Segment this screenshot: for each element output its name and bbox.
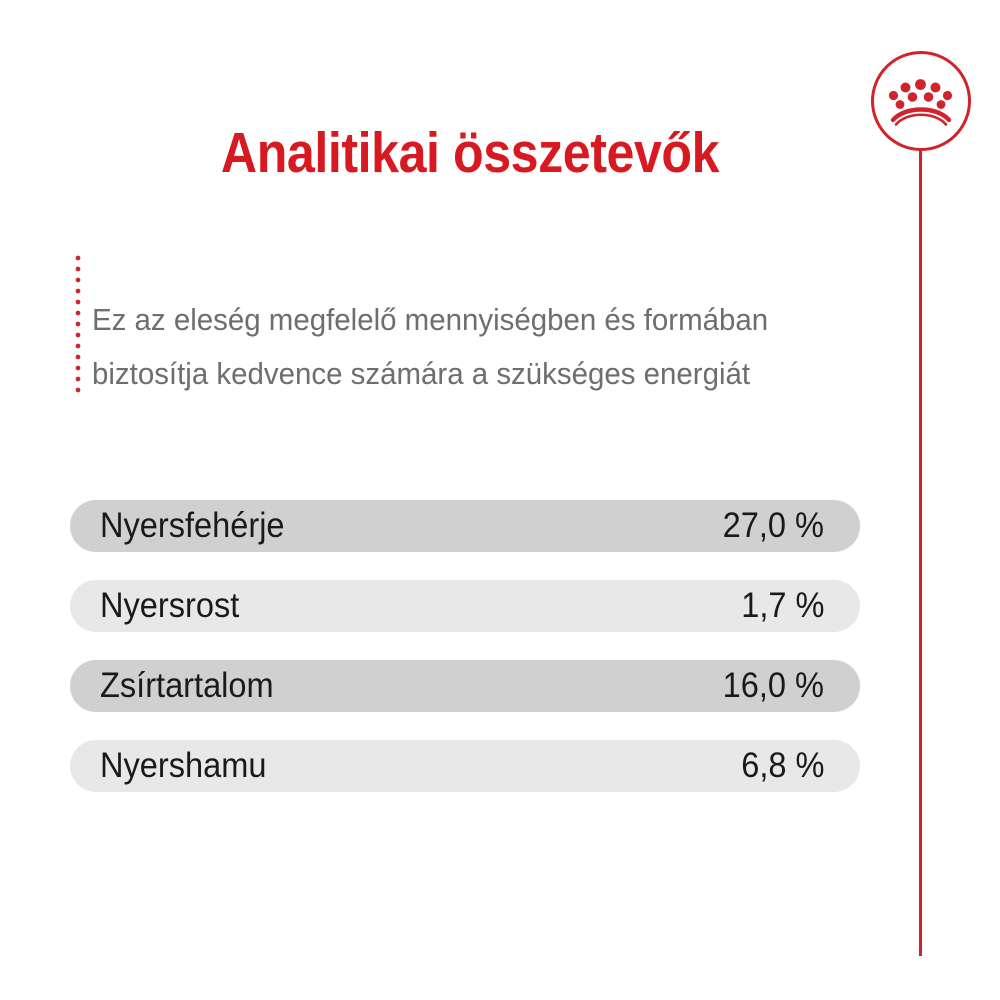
intro-block: Ez az eleség megfelelő mennyiségben és f…: [70, 250, 880, 432]
constituent-label: Nyersfehérje: [100, 500, 285, 552]
table-row: Nyersrost 1,7 %: [70, 580, 860, 632]
table-row: Nyershamu 6,8 %: [70, 740, 860, 792]
dotted-rule-icon: [70, 250, 92, 398]
brand-stem-line: [919, 100, 922, 956]
constituent-label: Nyershamu: [100, 740, 266, 792]
intro-text: Ez az eleség megfelelő mennyiségben és f…: [92, 281, 841, 401]
constituents-list: Nyersfehérje 27,0 % Nyersrost 1,7 % Zsír…: [70, 500, 860, 792]
constituent-value: 1,7 %: [741, 580, 824, 632]
constituent-value: 16,0 %: [723, 660, 824, 712]
crown-icon: [889, 76, 953, 126]
analytical-constituents-panel: Analitikai összetevők Ez az eleség megfe…: [0, 0, 1000, 1000]
constituent-label: Nyersrost: [100, 580, 239, 632]
table-row: Nyersfehérje 27,0 %: [70, 500, 860, 552]
constituent-label: Zsírtartalom: [100, 660, 274, 712]
page-title: Analitikai összetevők: [56, 122, 883, 184]
constituent-value: 6,8 %: [741, 740, 824, 792]
constituent-value: 27,0 %: [723, 500, 824, 552]
table-row: Zsírtartalom 16,0 %: [70, 660, 860, 712]
